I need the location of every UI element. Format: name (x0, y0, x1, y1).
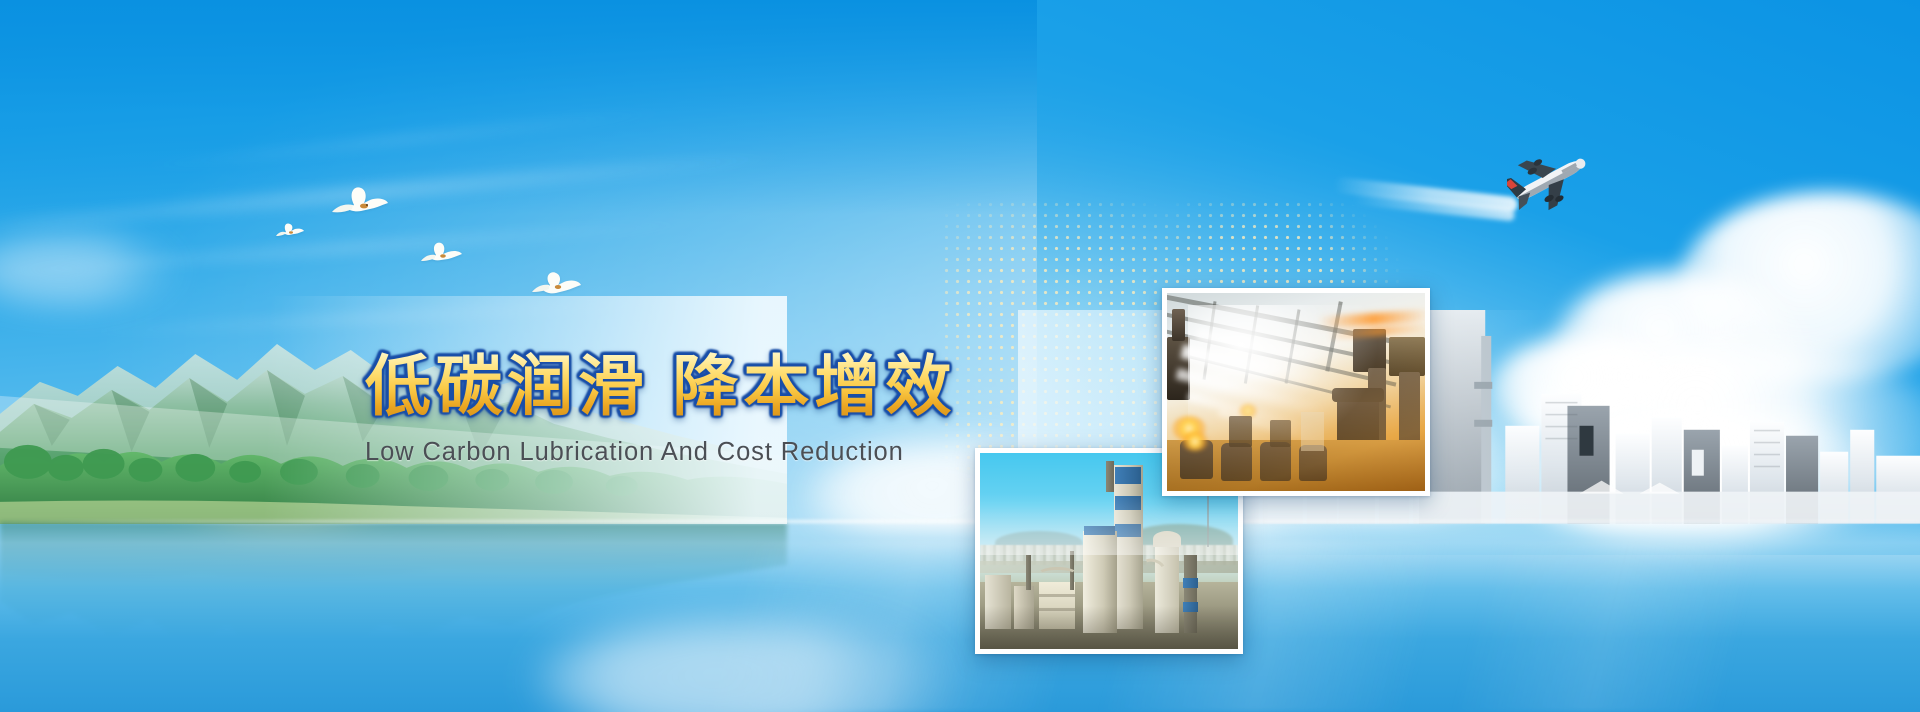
banner-text-block: 低碳润滑 降本增效 Low Carbon Lubrication And Cos… (365, 352, 956, 467)
banner-headline: 低碳润滑 降本增效 (365, 352, 956, 422)
dove-icon (530, 265, 582, 299)
dove-icon (275, 220, 305, 242)
dove-icon (330, 181, 390, 223)
photo-steel-mill[interactable] (1162, 288, 1430, 496)
hero-banner: 低碳润滑 降本增效 Low Carbon Lubrication And Cos… (0, 0, 1920, 712)
photo-steel-mill-image (1167, 293, 1425, 491)
water-light-sheen (0, 541, 1920, 712)
airplane-icon (1507, 150, 1593, 217)
dove-icon (419, 238, 463, 268)
horizon-waterline (0, 520, 1920, 523)
banner-subtitle: Low Carbon Lubrication And Cost Reductio… (365, 438, 956, 467)
